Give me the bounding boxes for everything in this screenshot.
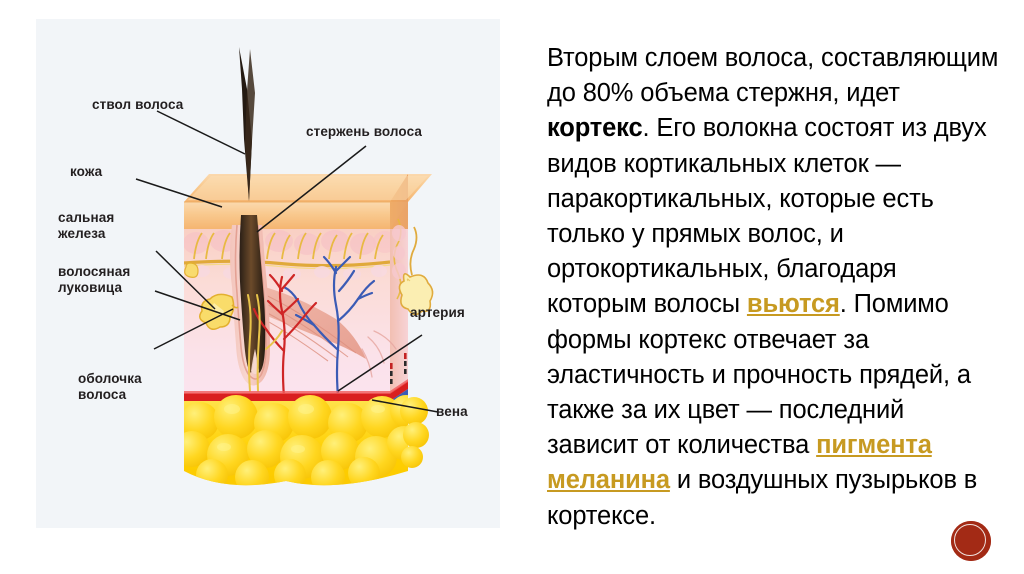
decorative-circle <box>951 521 991 561</box>
emphasis-term: кортекс <box>547 114 642 142</box>
label-sebaceous-gland: сальная железа <box>58 210 114 242</box>
body-paragraph: Вторым слоем волоса, составляющим до 80%… <box>547 41 999 534</box>
paragraph-text: . Его волокна состоят из двух видов корт… <box>547 114 987 318</box>
label-vein: вена <box>436 404 468 420</box>
label-skin: кожа <box>70 164 102 180</box>
paragraph-text: Вторым слоем волоса, составляющим до 80%… <box>547 44 998 107</box>
inline-link[interactable]: вьются <box>747 290 840 318</box>
label-hair-rod: стержень волоса <box>306 124 422 140</box>
label-artery: артерия <box>410 305 465 321</box>
label-hair-sheath: оболочка волоса <box>78 371 142 403</box>
figure-panel: ствол волоса кожа сальная железа волосян… <box>36 19 500 528</box>
label-hair-bulb: волосяная луковица <box>58 264 130 296</box>
label-hair-shaft: ствол волоса <box>92 97 183 113</box>
